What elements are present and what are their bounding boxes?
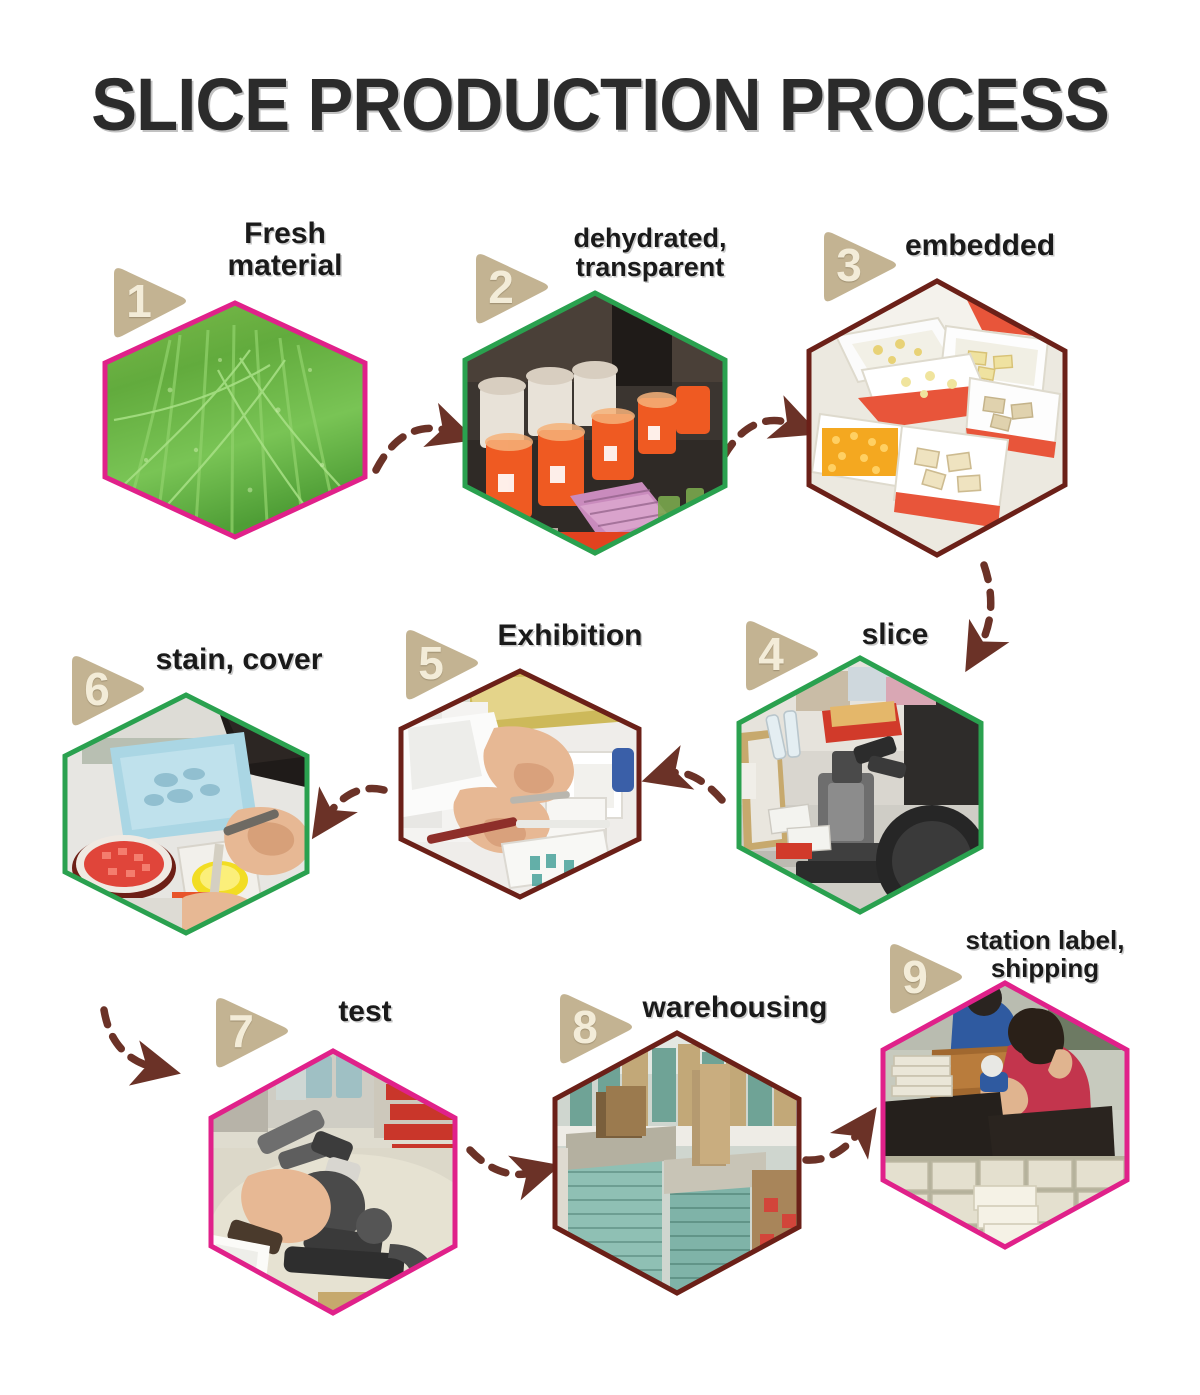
process-step-5[interactable]: 5 Exhibition bbox=[398, 668, 642, 900]
step-8-label: warehousing bbox=[610, 992, 860, 1024]
step-3-hexagon[interactable] bbox=[806, 278, 1068, 558]
process-step-9[interactable]: 9 station label, shipping bbox=[880, 980, 1130, 1250]
process-step-3[interactable]: 3 embedded bbox=[806, 278, 1068, 558]
step-8-badge: 8 bbox=[552, 986, 638, 1072]
step-6-label: stain, cover bbox=[124, 644, 354, 676]
step-1-badge: 1 bbox=[106, 260, 192, 346]
step-9-badge: 9 bbox=[882, 936, 968, 1022]
arrow-2-to-3 bbox=[724, 421, 796, 456]
arrow-5-to-6 bbox=[326, 789, 384, 818]
step-2-label: dehydrated, transparent bbox=[530, 224, 770, 282]
step-3-image bbox=[806, 278, 1068, 558]
page-title: SLICE PRODUCTION PROCESS bbox=[42, 62, 1158, 147]
process-step-2[interactable]: 2 dehydrated, transparent bbox=[462, 290, 728, 556]
step-7-badge: 7 bbox=[208, 990, 294, 1076]
arrow-3-to-4 bbox=[978, 565, 991, 650]
arrow-1-to-2 bbox=[376, 428, 452, 470]
step-7-image bbox=[208, 1048, 488, 1322]
step-2-badge: 2 bbox=[468, 246, 554, 332]
process-step-4[interactable]: 4 slice bbox=[736, 655, 984, 915]
step-1-label: Fresh material bbox=[180, 218, 390, 283]
process-step-1[interactable]: 1 Fresh material bbox=[100, 300, 370, 540]
step-3-badge: 3 bbox=[816, 224, 902, 310]
step-4-label: slice bbox=[800, 619, 990, 651]
infographic-canvas: SLICE PRODUCTION PROCESS bbox=[0, 0, 1200, 1395]
step-7-label: test bbox=[270, 996, 460, 1028]
arrow-7-to-8 bbox=[470, 1150, 536, 1174]
step-5-label: Exhibition bbox=[460, 620, 680, 652]
step-4-badge: 4 bbox=[738, 613, 824, 699]
arrow-6-to-7 bbox=[104, 1010, 156, 1068]
arrow-8-to-9 bbox=[806, 1128, 862, 1160]
arrow-4-to-5 bbox=[666, 772, 722, 800]
process-step-7[interactable]: 7 test bbox=[208, 1048, 458, 1316]
step-7-hexagon[interactable] bbox=[208, 1048, 458, 1316]
step-3-label: embedded bbox=[880, 230, 1080, 262]
process-step-8[interactable]: 8 warehousing bbox=[552, 1030, 802, 1296]
process-step-6[interactable]: 6 stain, cover bbox=[62, 692, 310, 936]
step-5-badge: 5 bbox=[398, 622, 484, 708]
step-6-badge: 6 bbox=[64, 648, 150, 734]
